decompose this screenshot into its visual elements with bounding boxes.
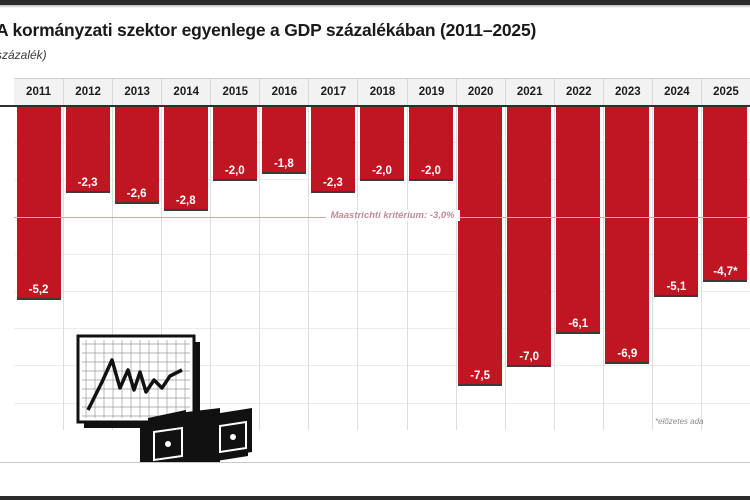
bar-value-label-2016: -1,8: [262, 158, 306, 170]
bar-2024[interactable]: -5,1: [654, 107, 698, 297]
bar-2025[interactable]: -4,7*: [703, 107, 747, 282]
bar-2022[interactable]: -6,1: [556, 107, 600, 334]
bar-2016[interactable]: -1,8: [262, 107, 306, 174]
year-header-2017: 2017: [308, 79, 357, 106]
gridline-v: [505, 105, 506, 430]
bar-value-label-2020: -7,5: [458, 370, 502, 382]
year-header-2022: 2022: [554, 79, 603, 106]
bar-2017[interactable]: -2,3: [311, 107, 355, 193]
bar-2011[interactable]: -5,2: [17, 107, 61, 300]
year-header-2013: 2013: [112, 79, 161, 106]
gridline-v: [603, 105, 604, 430]
year-header-2016: 2016: [259, 79, 308, 106]
year-header-2012: 2012: [63, 79, 112, 106]
bar-value-label-2023: -6,9: [605, 348, 649, 360]
gridline-v: [357, 105, 358, 430]
bar-2012[interactable]: -2,3: [66, 107, 110, 193]
bar-value-label-2012: -2,3: [66, 177, 110, 189]
bar-value-label-2014: -2,8: [164, 195, 208, 207]
year-header-2023: 2023: [603, 79, 652, 106]
year-header-2019: 2019: [407, 79, 456, 106]
year-header-2018: 2018: [357, 79, 406, 106]
year-header-2020: 2020: [456, 79, 505, 106]
chart-page: A kormányzati szektor egyenlege a GDP sz…: [0, 0, 750, 500]
footer: Forrás: KSH / Nemzeti Archívum / MTI | M…: [0, 463, 750, 500]
bar-value-label-2013: -2,6: [115, 188, 159, 200]
gridline-v: [652, 105, 653, 430]
gridline-v: [407, 105, 408, 430]
year-header-2014: 2014: [161, 79, 210, 106]
maastricht-reference-label: Maastrichti kritérium: -3,0%: [326, 210, 460, 221]
footnote: *előzetes ada: [655, 417, 703, 426]
bar-2013[interactable]: -2,6: [115, 107, 159, 204]
bar-value-label-2025: -4,7*: [703, 266, 747, 278]
bar-value-label-2018: -2,0: [360, 165, 404, 177]
bar-2019[interactable]: -2,0: [409, 107, 453, 181]
bar-2020[interactable]: -7,5: [458, 107, 502, 386]
gridline-v: [308, 105, 309, 430]
bar-value-label-2017: -2,3: [311, 177, 355, 189]
bar-2014[interactable]: -2,8: [164, 107, 208, 211]
bar-value-label-2011: -5,2: [17, 284, 61, 296]
chart-and-money-illustration: [70, 330, 260, 480]
year-header-2024: 2024: [652, 79, 701, 106]
bar-value-label-2015: -2,0: [213, 165, 257, 177]
year-header-row: 2011201220132014201520162017201820192020…: [14, 78, 750, 107]
bar-value-label-2019: -2,0: [409, 165, 453, 177]
bar-value-label-2021: -7,0: [507, 351, 551, 363]
bar-2023[interactable]: -6,9: [605, 107, 649, 364]
year-header-2021: 2021: [505, 79, 554, 106]
page-title: A kormányzati szektor egyenlege a GDP sz…: [0, 20, 750, 41]
year-header-2015: 2015: [210, 79, 259, 106]
top-rule-shadow: [0, 5, 750, 8]
gridline-v: [554, 105, 555, 430]
year-header-2011: 2011: [14, 79, 63, 106]
bar-2018[interactable]: -2,0: [360, 107, 404, 181]
page-subtitle: (százalék): [0, 48, 47, 62]
bar-value-label-2022: -6,1: [556, 318, 600, 330]
year-header-2025: 2025: [701, 79, 750, 106]
gridline-v: [701, 105, 702, 430]
bar-2021[interactable]: -7,0: [507, 107, 551, 367]
gridline-v: [63, 105, 64, 430]
bar-2015[interactable]: -2,0: [213, 107, 257, 181]
bar-value-label-2024: -5,1: [654, 281, 698, 293]
gridline-v: [456, 105, 457, 430]
bottom-rule: [0, 496, 750, 500]
